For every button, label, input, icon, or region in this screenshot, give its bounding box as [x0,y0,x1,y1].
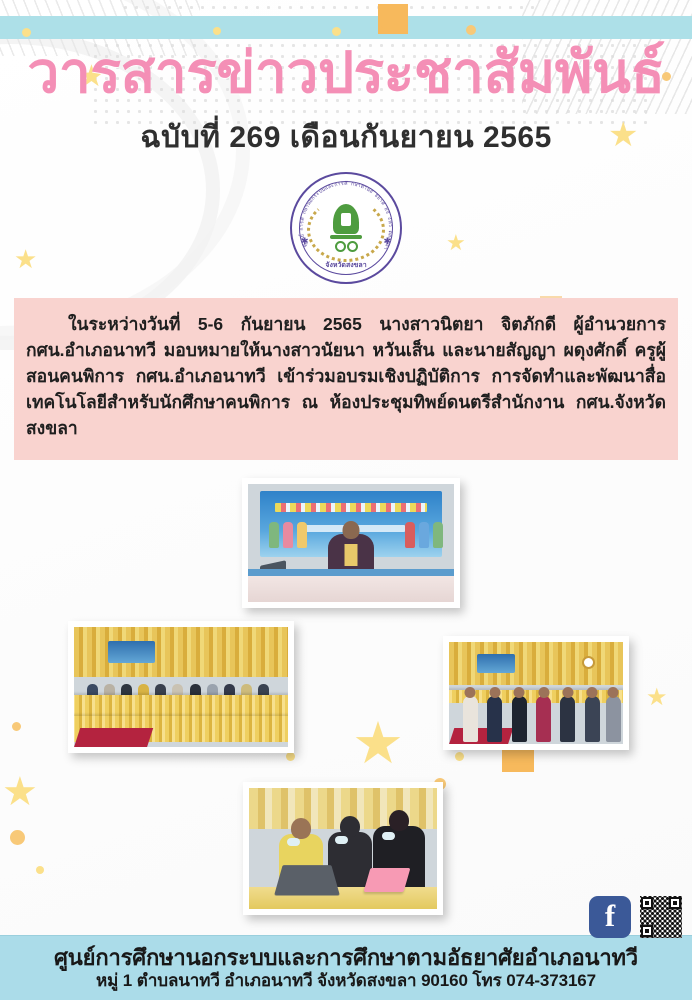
standing-attendees [449,687,623,742]
photo-conference-hall-gold-tables [68,621,294,753]
qr-finder-top-left [641,897,653,909]
banner-figure [433,522,443,548]
decor-dot [286,752,295,761]
seal-arc-text: ศูนย์การศึกษานอกระบบและการศึกษาตามอัธยาศ… [292,174,400,282]
seal-circle: ✱ ✱ จังหวัดสงขลา ศูนย์การศึกษานอกระบบและ… [290,172,402,284]
banner-figure [405,522,415,548]
star-icon: ★ [446,232,466,254]
decor-dot [22,28,31,37]
footer-organization: ศูนย์การศึกษานอกระบบและการศึกษาตามอัธยาศ… [54,946,638,970]
facebook-icon[interactable]: f [589,896,631,938]
announcement-body: ในระหว่างวันที่ 5-6 กันยายน 2565 นางสาวน… [26,314,666,438]
banner-figure [297,522,307,548]
organization-seal: ✱ ✱ จังหวัดสงขลา ศูนย์การศึกษานอกระบบและ… [290,172,402,284]
photo-image [74,627,288,747]
poster-header: วารสารข่าวประชาสัมพันธ์ ฉบับที่ 269 เดือ… [0,44,692,161]
projection-screen [108,641,155,663]
banner-figure [419,522,429,548]
face-mask [335,836,348,844]
gold-curtain [449,642,623,685]
announcement-box: ในระหว่างวันที่ 5-6 กันยายน 2565 นางสาวน… [14,298,678,460]
decor-dot [12,722,21,731]
issue-subtitle: ฉบับที่ 269 เดือนกันยายน 2565 [0,114,692,161]
announcement-text: ในระหว่างวันที่ 5-6 กันยายน 2565 นางสาวน… [26,312,666,441]
star-icon: ★ [352,715,404,773]
face-mask [382,832,395,840]
footer-address: หมู่ 1 ตำบลนาทวี อำเภอนาทวี จังหวัดสงขลา… [96,972,596,991]
decor-dot [466,25,476,35]
footer: ศูนย์การศึกษานอกระบบและการศึกษาตามอัธยาศ… [0,935,692,1000]
photo-participants-standing [443,636,629,750]
gold-skirted-table [74,695,288,715]
dot-pattern-top [120,2,540,18]
photo-working-on-laptop [243,782,443,915]
projection-screen [477,654,515,672]
qr-code-icon[interactable] [640,896,682,938]
decor-dot [36,866,44,874]
decor-blob [378,4,408,34]
red-carpet [74,728,153,747]
photo-image [249,788,437,909]
poster-canvas: ★ ★ ★ ★ ★ ★ ★ วารสารข่าวประชาสัมพันธ์ ฉบ… [0,0,692,1000]
photo-speaker-at-banner [242,478,460,608]
star-icon: ★ [646,686,668,710]
social-links: f [589,896,682,938]
decor-dot [455,752,464,761]
page-title: วารสารข่าวประชาสัมพันธ์ [0,44,692,104]
front-table [248,576,454,602]
decor-dot [332,27,341,36]
top-blue-band [0,16,692,39]
banner-figure [269,522,279,548]
photo-image [248,484,454,602]
qr-finder-top-right [669,897,681,909]
laptop [274,866,340,896]
decor-dot [213,27,221,35]
face-mask [287,838,300,846]
banner-figure [283,522,293,548]
decor-dot [10,830,25,845]
photo-image [449,642,623,744]
star-icon: ★ [14,246,37,272]
qr-finder-bottom-left [641,925,653,937]
pink-notebook [363,868,410,892]
star-icon: ★ [2,772,38,812]
